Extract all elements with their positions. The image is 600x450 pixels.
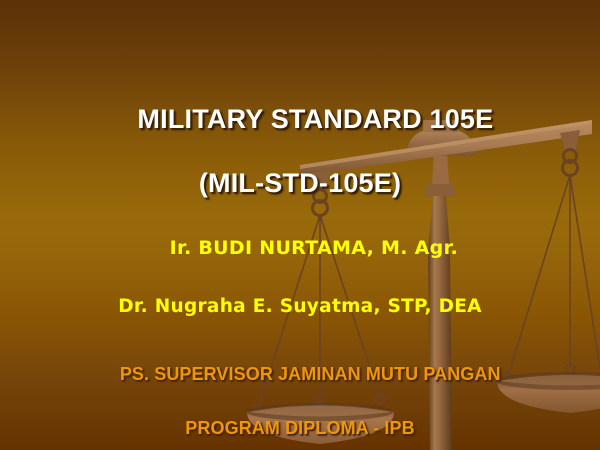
author-line2: Dr. Nugraha E. Suyatma, STP, DEA bbox=[0, 293, 600, 322]
program-affiliation: PS. SUPERVISOR JAMINAN MUTU PANGAN PROGR… bbox=[0, 334, 600, 450]
author-line1: Ir. BUDI NURTAMA, M. Agr. bbox=[170, 237, 458, 259]
program-line2: PROGRAM DIPLOMA - IPB bbox=[0, 415, 600, 442]
slide-title-line1: MILITARY STANDARD 105E bbox=[137, 104, 493, 134]
program-line1: PS. SUPERVISOR JAMINAN MUTU PANGAN bbox=[120, 364, 501, 384]
presentation-slide: MILITARY STANDARD 105E (MIL-STD-105E) Ir… bbox=[0, 0, 600, 450]
slide-title-line2: (MIL-STD-105E) bbox=[0, 168, 600, 200]
